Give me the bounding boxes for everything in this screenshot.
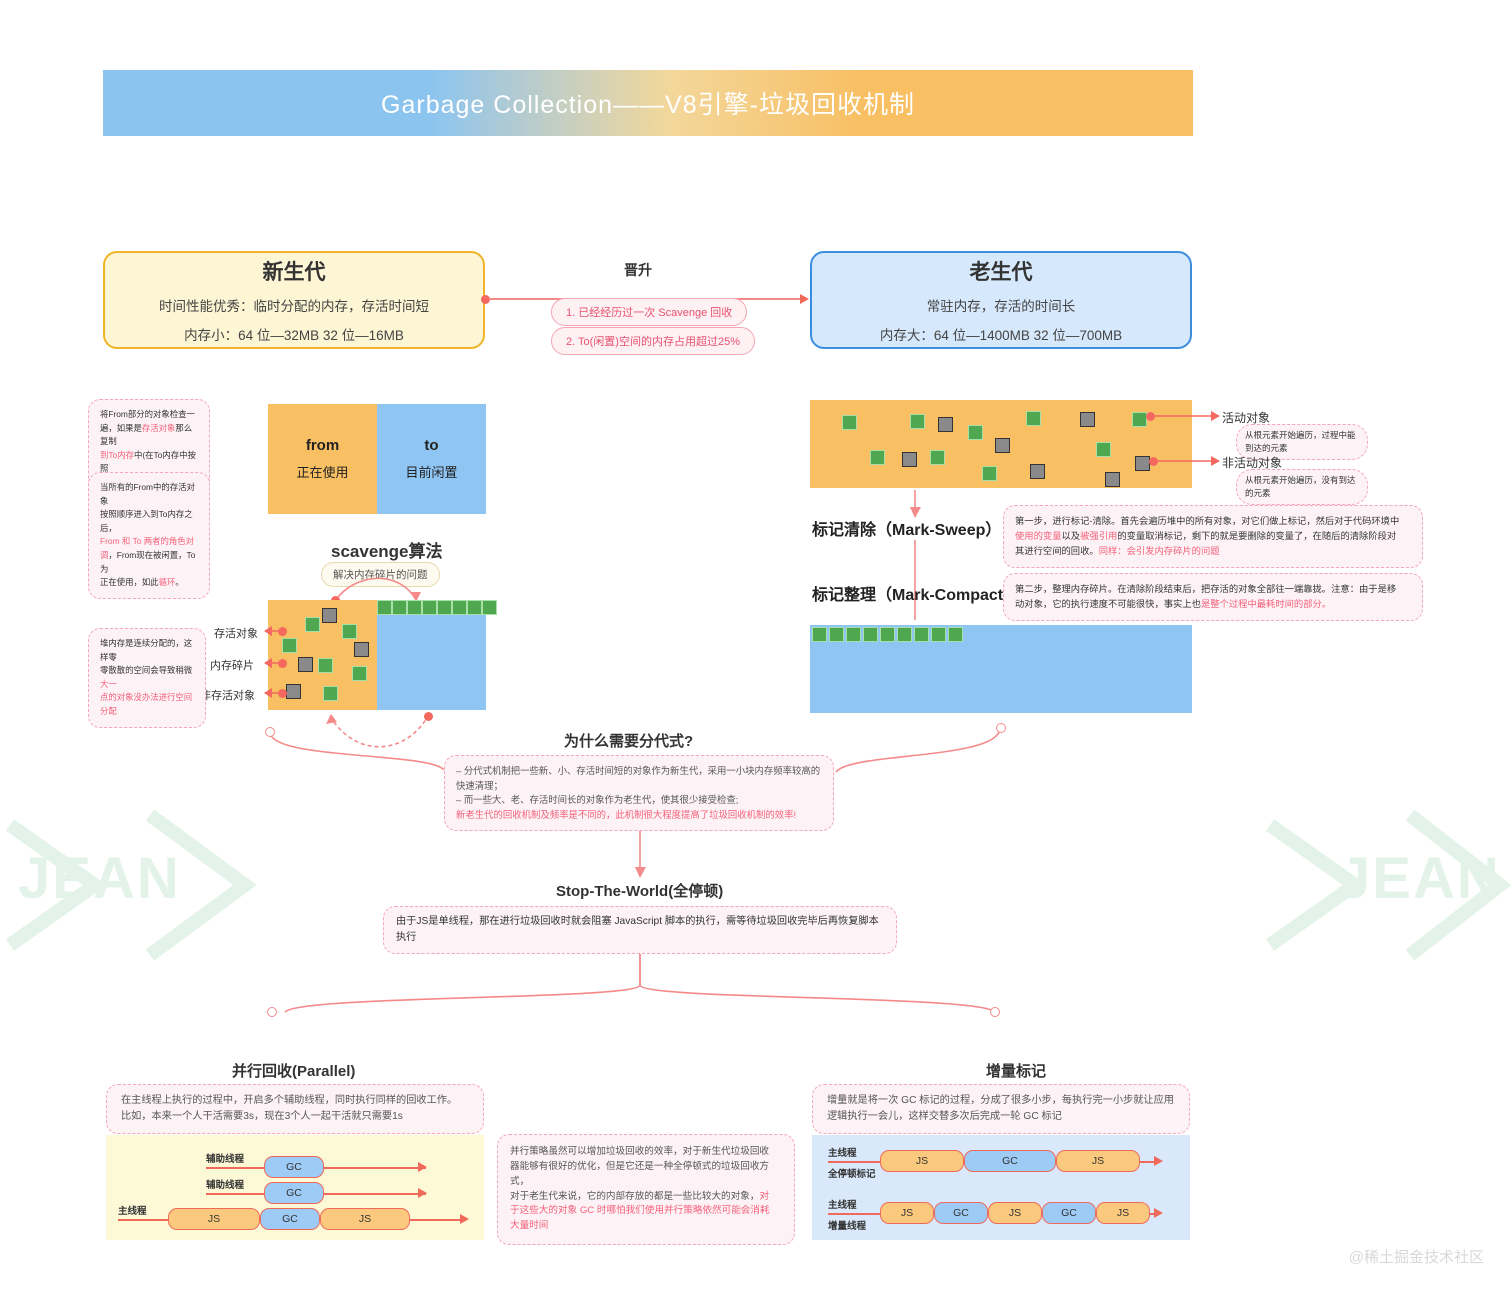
- note2-line2: 按照顺序进入到To内存之后，: [100, 509, 193, 533]
- compacted-object-square: [829, 627, 844, 642]
- ms-l2r2: 被强引用: [1080, 531, 1117, 541]
- active-object-square: [910, 414, 925, 429]
- incremental-row1-label2: 全停顿标记: [828, 1166, 876, 1180]
- gen-l1: – 分代式机制把一些新、小、存活时间短的对象作为新生代，采用一小块内存频率较高的…: [456, 765, 820, 791]
- parallel-branch-node: [267, 1007, 277, 1017]
- psn-l5r: 于这些大的对象 GC 时哪怕我们使用并行策略依然可能会消耗: [510, 1205, 770, 1216]
- dead-object-square: [354, 642, 369, 657]
- watermark-right: JEAN: [1338, 845, 1501, 912]
- old-generation-title: 老生代: [970, 256, 1033, 286]
- mark-sweep-title: 标记清除（Mark-Sweep）: [812, 516, 1001, 540]
- note1-line2a: 遍，如果是: [100, 423, 142, 433]
- active-object-square: [1096, 442, 1111, 457]
- ms-l2b: 的变量取消标记，剩下的就是要删除的变量了，在随后的清除阶段对: [1117, 531, 1396, 541]
- alive-object-square: [352, 666, 367, 681]
- scavenge-title: scavenge算法: [331, 537, 443, 562]
- watermark-left: JEAN: [18, 845, 181, 912]
- inactive-object-square: [995, 438, 1010, 453]
- oldgen-branch-node: [996, 723, 1006, 733]
- title-banner: Garbage Collection——V8引擎-垃圾回收机制: [103, 70, 1193, 136]
- dead-object-square: [286, 684, 301, 699]
- promotion-arrow-head: [800, 294, 809, 304]
- incremental-row2-label1: 主线程: [828, 1197, 857, 1211]
- compacted-object-square: [914, 627, 929, 642]
- active-object-square: [930, 450, 945, 465]
- compacted-object-square: [948, 627, 963, 642]
- copied-object-square: [452, 600, 467, 615]
- promotion-label: 晋升: [624, 260, 652, 280]
- alive-object-square: [282, 638, 297, 653]
- old-generation-heap: [810, 400, 1192, 488]
- inactive-object-square: [1135, 456, 1150, 471]
- scavenge-branch-node: [265, 727, 275, 737]
- from-label-cn: 正在使用: [296, 462, 348, 481]
- scavenge-heap: [268, 600, 486, 710]
- new-generation-line2: 内存小：64 位—32MB 32 位—16MB: [184, 324, 404, 344]
- note2-line5b: 。: [175, 577, 183, 587]
- parallel-side-note: 并行策略虽然可以增加垃圾回收的效率，对于新生代垃圾回收 器能够有很好的优化，但是…: [497, 1134, 795, 1245]
- ms-l2a: 以及: [1062, 531, 1081, 541]
- label-alive-object: 存活对象: [214, 625, 258, 641]
- parallel-row1-chip-gc: GC: [264, 1156, 324, 1178]
- note1-line3r: 到To内存: [100, 450, 134, 460]
- parallel-row3-label: 主线程: [118, 1203, 147, 1217]
- alive-object-square: [305, 617, 320, 632]
- active-object-square: [982, 466, 997, 481]
- active-object-square: [870, 450, 885, 465]
- ms-l3a: 其进行空间的回收。: [1015, 546, 1099, 556]
- new-generation-title: 新生代: [263, 256, 326, 286]
- copied-object-square: [407, 600, 422, 615]
- scavenge-dst-dot: [424, 712, 433, 721]
- generational-note: – 分代式机制把一些新、小、存活时间短的对象作为新生代，采用一小块内存频率较高的…: [444, 755, 834, 831]
- copied-object-square: [422, 600, 437, 615]
- from-to-diagram: from 正在使用 to 目前闲置: [268, 404, 486, 514]
- to-space: to 目前闲置: [377, 404, 486, 514]
- diagram-canvas: JEAN JEAN Garbage Collection——V8引擎-垃圾回收机…: [0, 0, 1512, 1293]
- note2-line3r: From 和 To 两者的角色对: [100, 536, 194, 546]
- note2-line5a: 正在使用，如此: [100, 577, 159, 587]
- from-to-note-2: 当所有的From中的存活对象 按照顺序进入到To内存之后， From 和 To …: [88, 472, 210, 599]
- mark-compact-title: 标记整理（Mark-Compact）: [812, 581, 1019, 605]
- active-object-square: [1132, 412, 1147, 427]
- from-label-en: from: [306, 437, 339, 454]
- inactive-object-note: 从根元素开始遍历，没有到达的元素: [1236, 469, 1368, 505]
- note1-line1: 将From部分的对象检查一: [100, 409, 195, 419]
- incremental-row1-chip-js1: JS: [880, 1150, 964, 1172]
- mc-l2a: 动对象，它的执行速度不可能很快，事实上也: [1015, 599, 1201, 609]
- dead-object-square: [298, 657, 313, 672]
- parallel-row1-label: 辅助线程: [206, 1151, 244, 1165]
- generational-title: 为什么需要分代式?: [564, 730, 693, 751]
- psn-l6r: 大量时间: [510, 1220, 548, 1231]
- incremental-branch-node: [990, 1007, 1000, 1017]
- incremental-row2-chip-gc2: GC: [1042, 1202, 1096, 1224]
- alive-anchor-dot: [278, 627, 287, 636]
- parallel-row2-chip-gc: GC: [264, 1182, 324, 1204]
- note1-line2r: 存活对象: [142, 423, 176, 433]
- active-object-square: [1026, 411, 1041, 426]
- note2-line5r: 循环: [159, 577, 176, 587]
- active-object-anchor-dot: [1146, 412, 1155, 421]
- parallel-note: 在主线程上执行的过程中，开启多个辅助线程，同时执行同样的回收工作。 比如，本来一…: [106, 1084, 484, 1134]
- to-label-cn: 目前闲置: [405, 462, 457, 481]
- compacted-object-square: [863, 627, 878, 642]
- mc-l2r: 是整个过程中最耗时间的部分。: [1201, 599, 1331, 609]
- alive-object-square: [342, 624, 357, 639]
- fragment-anchor-dot: [278, 659, 287, 668]
- ms-l2r1: 使用的变量: [1015, 531, 1062, 541]
- parallel-title: 并行回收(Parallel): [232, 1060, 355, 1081]
- gen-l3r: 新老生代的回收机制及频率是不同的，此机制很大程度提高了垃圾回收机制的效率!: [456, 809, 796, 820]
- gen-l2: – 而一些大、老、存活时间长的对象作为老生代，使其很少接受检查;: [456, 794, 738, 805]
- incremental-row1-chip-js2: JS: [1056, 1150, 1140, 1172]
- incremental-row1-chip-gc: GC: [964, 1150, 1056, 1172]
- incremental-row2-arrow: [1154, 1208, 1163, 1218]
- scav-note-l2r: 大一: [100, 679, 117, 689]
- psn-l4a: 对于老生代来说，它的内部存放的都是一些比较大的对象，: [510, 1191, 759, 1202]
- compacted-heap: [810, 625, 1192, 713]
- scav-note-l2: 零散散的空间会导致稍微: [100, 665, 192, 675]
- compacted-object-square: [812, 627, 827, 642]
- psn-l2: 器能够有很好的优化，但是它还是一种全停顿式的垃圾回收方: [510, 1161, 769, 1172]
- psn-l3: 式，: [510, 1176, 529, 1187]
- par-l2: 比如，本来一个人干活需要3s，现在3个人一起干活就只需要1s: [121, 1111, 403, 1122]
- parallel-row3-chip-js2: JS: [320, 1208, 410, 1230]
- parallel-timeline-panel: 辅助线程 GC 辅助线程 GC 主线程 JS GC JS: [106, 1135, 484, 1240]
- inc-l1: 增量就是将一次 GC 标记的过程，分成了很多小步，每执行完一小步就让应用: [827, 1095, 1174, 1106]
- mark-compact-note: 第二步，整理内存碎片。在清除阶段结束后，把存活的对象全部往一端靠拢。注意：由于是…: [1003, 573, 1423, 621]
- ms-l1: 第一步，进行标记-清除。首先会遍历堆中的所有对象，对它们做上标记，然后对于代码环…: [1015, 516, 1399, 526]
- parallel-row2-label: 辅助线程: [206, 1177, 244, 1191]
- par-l1: 在主线程上执行的过程中，开启多个辅助线程，同时执行同样的回收工作。: [121, 1095, 457, 1106]
- old-generation-box: 老生代 常驻内存，存活的时间长 内存大：64 位—1400MB 32 位—700…: [810, 251, 1192, 349]
- incremental-row2-chip-js2: JS: [988, 1202, 1042, 1224]
- incremental-row1-label1: 主线程: [828, 1145, 857, 1159]
- copied-object-square: [392, 600, 407, 615]
- compacted-object-square: [897, 627, 912, 642]
- parallel-row3-arrow: [460, 1214, 469, 1224]
- inactive-object-square: [902, 452, 917, 467]
- mark-sweep-note: 第一步，进行标记-清除。首先会遍历堆中的所有对象，对它们做上标记，然后对于代码环…: [1003, 505, 1423, 568]
- copied-object-square: [467, 600, 482, 615]
- parallel-row2-arrow: [418, 1188, 427, 1198]
- label-dead-object: 非存活对象: [200, 687, 255, 703]
- compacted-object-square: [846, 627, 861, 642]
- active-object-square: [968, 425, 983, 440]
- from-space: from 正在使用: [268, 404, 377, 514]
- incremental-row1-arrow: [1154, 1156, 1163, 1166]
- incremental-timeline-panel: 主线程 全停顿标记 JS GC JS 主线程 增量线程 JS GC JS GC …: [812, 1135, 1190, 1240]
- ms-l3r: 同样：会引发内存碎片的问题: [1099, 546, 1220, 556]
- incremental-row2-label2: 增量线程: [828, 1218, 866, 1232]
- credit-watermark: @稀土掘金技术社区: [1349, 1246, 1484, 1267]
- scav-note-l3r: 点的对象没办法进行空间分配: [100, 692, 192, 716]
- incremental-row2-chip-js1: JS: [880, 1202, 934, 1224]
- compacted-object-square: [931, 627, 946, 642]
- copied-object-square: [482, 600, 497, 615]
- incremental-note: 增量就是将一次 GC 标记的过程，分成了很多小步，每执行完一小步就让应用 逻辑执…: [812, 1084, 1190, 1134]
- label-memory-fragment: 内存碎片: [210, 657, 254, 673]
- mc-l1: 第二步，整理内存碎片。在清除阶段结束后，把存活的对象全部往一端靠拢。注意：由于是…: [1015, 584, 1396, 594]
- stop-the-world-note: 由于JS是单线程，那在进行垃圾回收时就会阻塞 JavaScript 脚本的执行，…: [383, 906, 897, 954]
- new-generation-box: 新生代 时间性能优秀：临时分配的内存，存活时间短 内存小：64 位—32MB 3…: [103, 251, 485, 349]
- note2-line4a: ，From现在被闲置，To为: [100, 550, 195, 574]
- promotion-condition-2: 2. To(闲置)空间的内存占用超过25%: [551, 327, 755, 355]
- copied-object-square: [377, 600, 392, 615]
- psn-l4r: 对: [759, 1191, 769, 1202]
- inc-l2: 逻辑执行一会儿，这样交替多次后完成一轮 GC 标记: [827, 1111, 1062, 1122]
- copied-object-square: [437, 600, 452, 615]
- inactive-object-square: [1030, 464, 1045, 479]
- psn-l1: 并行策略虽然可以增加垃圾回收的效率，对于新生代垃圾回收: [510, 1146, 769, 1157]
- parallel-row3-chip-gc: GC: [260, 1208, 320, 1230]
- dead-anchor-dot: [278, 689, 287, 698]
- compacted-object-square: [880, 627, 895, 642]
- new-generation-line1: 时间性能优秀：临时分配的内存，存活时间短: [159, 295, 429, 315]
- scavenge-heap-to: [377, 600, 486, 710]
- scavenge-left-note: 堆内存是连续分配的，这样零 零散散的空间会导致稍微大一 点的对象没办法进行空间分…: [88, 628, 206, 728]
- inactive-object-square: [1080, 412, 1095, 427]
- dead-object-square: [322, 608, 337, 623]
- parallel-row3-chip-js1: JS: [168, 1208, 260, 1230]
- inactive-object-square: [1105, 472, 1120, 487]
- scavenge-pill: 解决内存碎片的问题: [321, 562, 440, 587]
- alive-object-square: [318, 658, 333, 673]
- incremental-row2-chip-js3: JS: [1096, 1202, 1150, 1224]
- alive-object-square: [323, 686, 338, 701]
- parallel-row1-arrow: [418, 1162, 427, 1172]
- incremental-row2-chip-gc1: GC: [934, 1202, 988, 1224]
- scav-note-l1: 堆内存是连续分配的，这样零: [100, 638, 192, 662]
- stop-the-world-title: Stop-The-World(全停顿): [556, 880, 723, 901]
- old-generation-line2: 内存大：64 位—1400MB 32 位—700MB: [880, 324, 1122, 344]
- inactive-object-anchor-dot: [1149, 457, 1158, 466]
- inactive-object-square: [938, 417, 953, 432]
- promotion-condition-1: 1. 已经经历过一次 Scavenge 回收: [551, 298, 747, 326]
- old-generation-line1: 常驻内存，存活的时间长: [927, 295, 1076, 315]
- active-object-square: [842, 415, 857, 430]
- to-label-en: to: [424, 437, 438, 454]
- note2-line1: 当所有的From中的存活对象: [100, 482, 195, 506]
- page-title: Garbage Collection——V8引擎-垃圾回收机制: [381, 85, 915, 121]
- incremental-title: 增量标记: [986, 1060, 1046, 1081]
